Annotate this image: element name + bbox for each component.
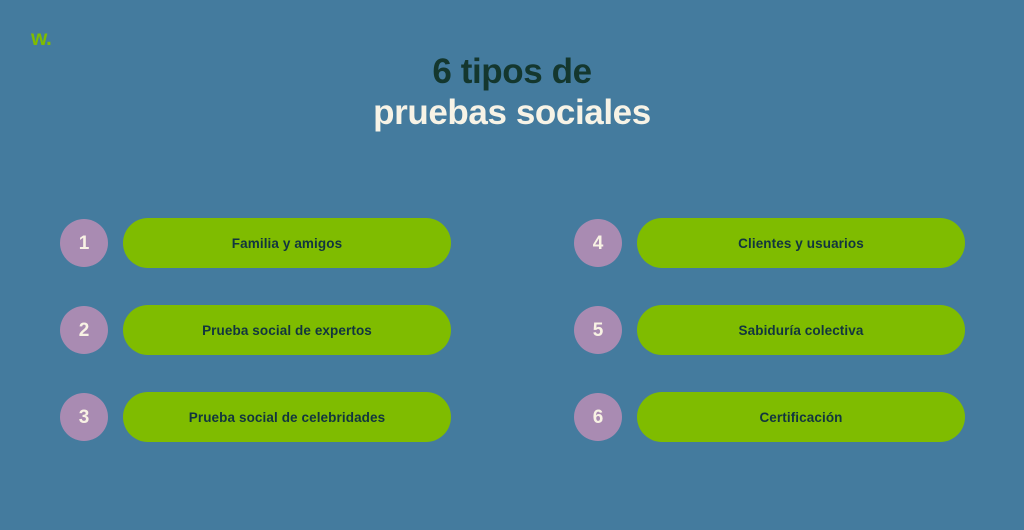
item-number-badge: 2 xyxy=(60,306,108,354)
page-title-line-2: pruebas sociales xyxy=(0,93,1024,134)
item-label-pill[interactable]: Prueba social de celebridades xyxy=(123,392,451,442)
list-item[interactable]: 3 Prueba social de celebridades xyxy=(60,392,451,442)
item-number-badge: 4 xyxy=(574,219,622,267)
item-number-badge: 5 xyxy=(574,306,622,354)
page-title-line-1: 6 tipos de xyxy=(0,52,1024,93)
brand-logo: w. xyxy=(31,28,51,49)
item-label-pill[interactable]: Familia y amigos xyxy=(123,218,451,268)
item-label-pill[interactable]: Certificación xyxy=(637,392,965,442)
list-item[interactable]: 5 Sabiduría colectiva xyxy=(574,305,965,355)
item-number-badge: 1 xyxy=(60,219,108,267)
item-label-pill[interactable]: Prueba social de expertos xyxy=(123,305,451,355)
page-title: 6 tipos de pruebas sociales xyxy=(0,52,1024,133)
item-label-pill[interactable]: Clientes y usuarios xyxy=(637,218,965,268)
list-item[interactable]: 2 Prueba social de expertos xyxy=(60,305,451,355)
list-item[interactable]: 1 Familia y amigos xyxy=(60,218,451,268)
item-label-pill[interactable]: Sabiduría colectiva xyxy=(637,305,965,355)
items-grid: 1 Familia y amigos 2 Prueba social de ex… xyxy=(0,218,1024,450)
list-item[interactable]: 4 Clientes y usuarios xyxy=(574,218,965,268)
item-number-badge: 3 xyxy=(60,393,108,441)
slide-canvas: w. 6 tipos de pruebas sociales 1 Familia… xyxy=(0,0,1024,530)
list-item[interactable]: 6 Certificación xyxy=(574,392,965,442)
item-number-badge: 6 xyxy=(574,393,622,441)
